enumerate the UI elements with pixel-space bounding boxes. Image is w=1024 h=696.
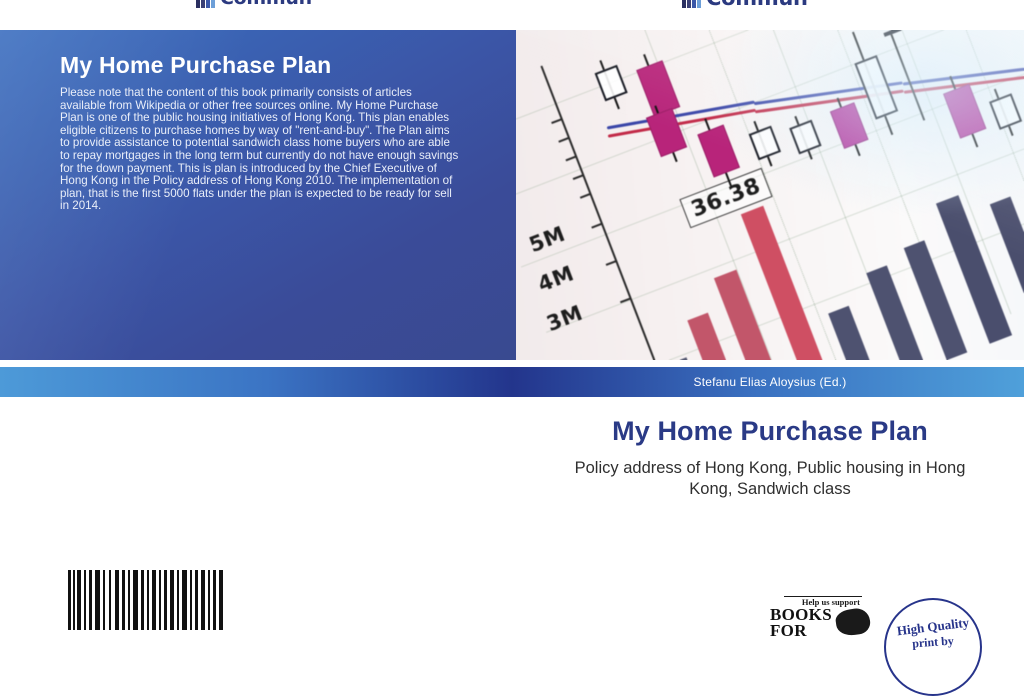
- cover-photograph: 5M 4M 3M 36.38 37.16 37.16: [516, 30, 1024, 360]
- publisher-logo-text: Commun: [220, 0, 312, 8]
- books-for-africa-logo: Help us support BOOKS FOR: [770, 596, 880, 639]
- publisher-logo-text: Commun: [706, 0, 808, 8]
- bfa-books-text: BOOKS: [770, 605, 832, 624]
- publisher-bars-icon: [682, 0, 701, 8]
- publisher-logo-right: Commun: [682, 0, 808, 8]
- books-for-africa-line2: FOR: [770, 623, 880, 639]
- back-cover-description: Please note that the content of this boo…: [60, 87, 460, 213]
- author-band: Stefanu Elias Aloysius (Ed.): [0, 367, 1024, 397]
- book-cover-spread: My Home Purchase Plan Please note that t…: [0, 30, 1024, 600]
- books-for-africa-line1: BOOKS: [770, 607, 880, 623]
- front-cover-subtitle: Policy address of Hong Kong, Public hous…: [516, 458, 1024, 500]
- author-name: Stefanu Elias Aloysius (Ed.): [0, 367, 1024, 397]
- publisher-logo-left: Commun: [196, 0, 312, 8]
- front-cover-title: My Home Purchase Plan: [516, 415, 1024, 447]
- isbn-barcode: [68, 570, 228, 630]
- back-cover-title: My Home Purchase Plan: [60, 52, 490, 79]
- quality-seal-badge: High Quality print by: [884, 598, 982, 696]
- front-cover-text: My Home Purchase Plan Policy address of …: [516, 415, 1024, 500]
- back-cover-panel: My Home Purchase Plan Please note that t…: [0, 30, 516, 360]
- publisher-bars-icon: [196, 0, 215, 8]
- publisher-logo-strip: Commun Commun: [0, 0, 1024, 30]
